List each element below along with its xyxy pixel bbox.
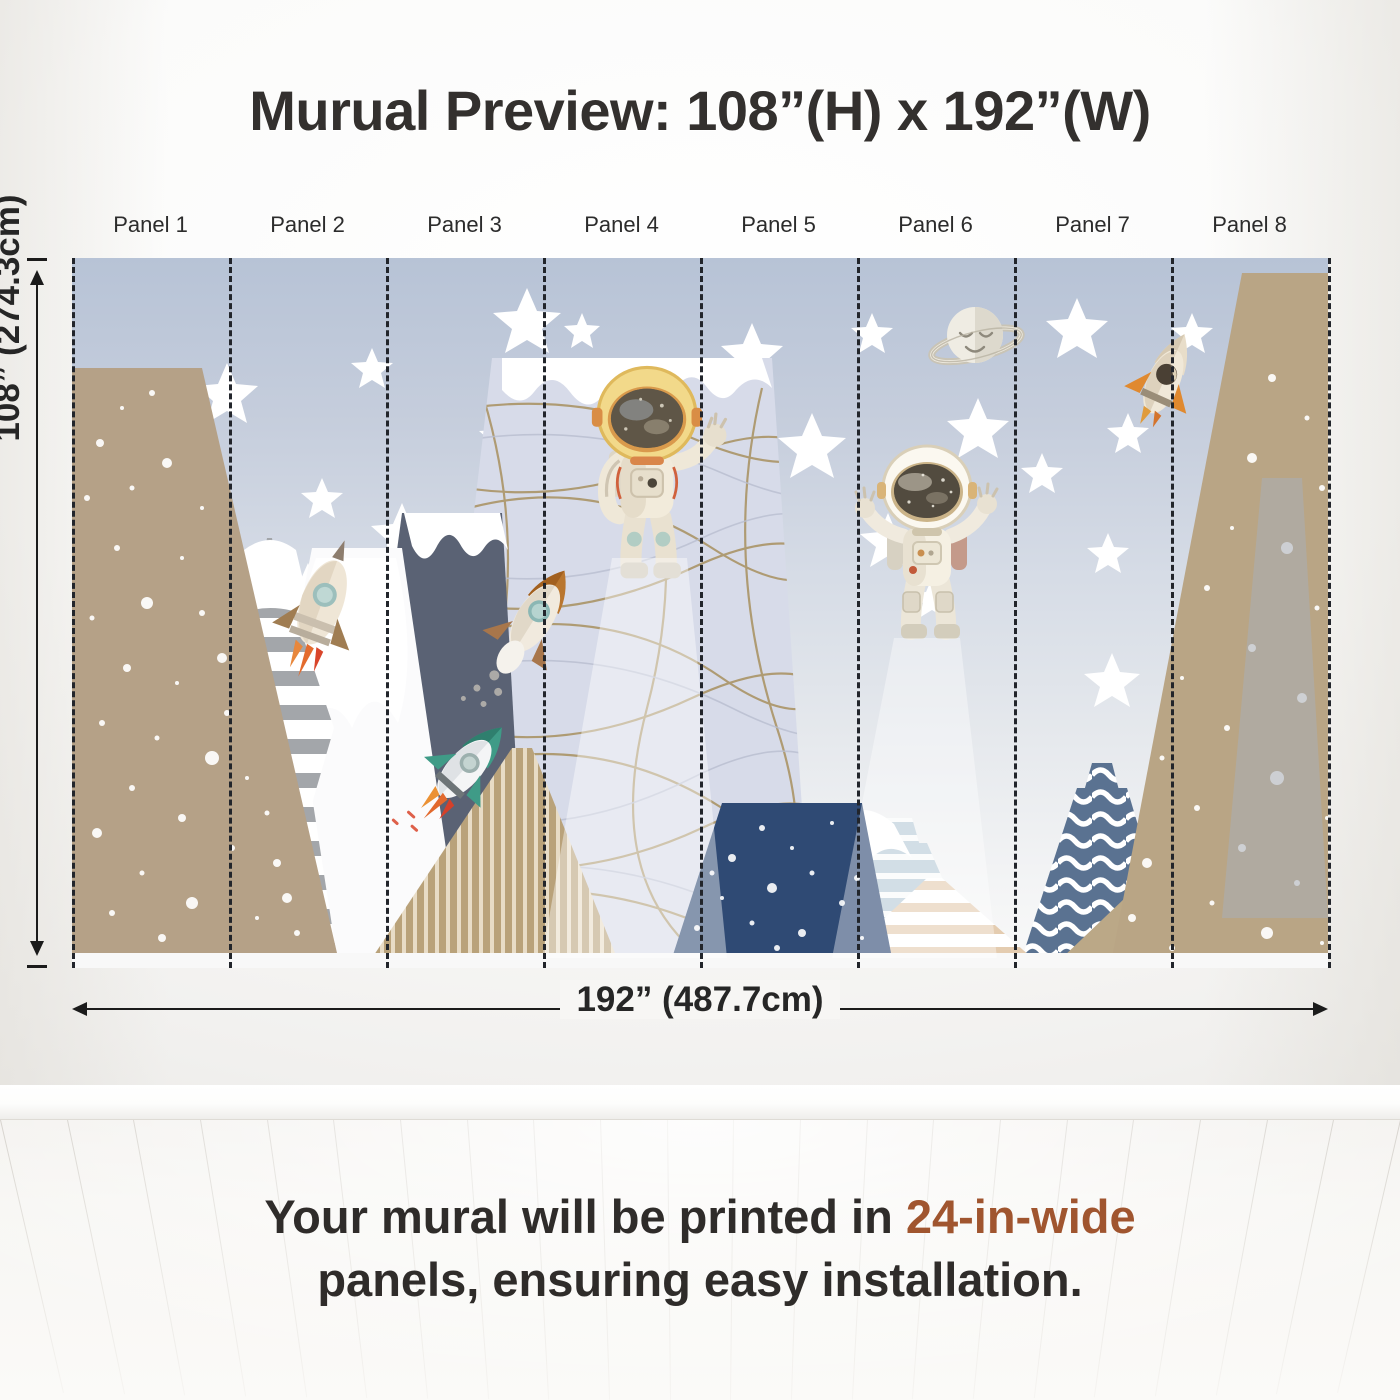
panel-label-8: Panel 8 xyxy=(1171,212,1328,238)
panel-divider-7 xyxy=(1171,258,1174,968)
width-label: 192” (487.7cm) xyxy=(560,980,839,1019)
height-tick-bottom xyxy=(27,965,47,968)
panel-label-7: Panel 7 xyxy=(1014,212,1171,238)
panel-divider-8 xyxy=(1328,258,1331,968)
mural-preview-page: Murual Preview: 108”(H) x 192”(W) xyxy=(0,0,1400,1400)
caption-line-1: Your mural will be printed in 24-in-wide xyxy=(90,1186,1310,1249)
panel-label-4: Panel 4 xyxy=(543,212,700,238)
height-arrow-down xyxy=(30,941,44,956)
panel-divider-5 xyxy=(857,258,860,968)
height-label: 108” (274.3cm) xyxy=(0,58,28,578)
panel-divider-2 xyxy=(386,258,389,968)
width-label-wrap: 192” (487.7cm) xyxy=(72,980,1328,1020)
panel-label-3: Panel 3 xyxy=(386,212,543,238)
width-dimension: 192” (487.7cm) xyxy=(72,1008,1328,1010)
room-baseboard xyxy=(0,1085,1400,1120)
panel-label-2: Panel 2 xyxy=(229,212,386,238)
panel-divider-3 xyxy=(543,258,546,968)
panel-divider-1 xyxy=(229,258,232,968)
height-tick-top xyxy=(27,258,47,261)
panel-divider-0 xyxy=(72,258,75,968)
caption-text-before: Your mural will be printed in xyxy=(264,1190,906,1243)
panel-label-6: Panel 6 xyxy=(857,212,1014,238)
caption-highlight: 24-in-wide xyxy=(906,1190,1136,1243)
height-line xyxy=(36,272,38,954)
panel-divider-6 xyxy=(1014,258,1017,968)
panel-label-1: Panel 1 xyxy=(72,212,229,238)
height-arrow-up xyxy=(30,270,44,285)
height-dimension xyxy=(36,258,38,968)
panel-label-5: Panel 5 xyxy=(700,212,857,238)
page-title: Murual Preview: 108”(H) x 192”(W) xyxy=(0,78,1400,143)
caption-line-2: panels, ensuring easy installation. xyxy=(90,1249,1310,1312)
footer-caption: Your mural will be printed in 24-in-wide… xyxy=(90,1186,1310,1312)
panel-divider-4 xyxy=(700,258,703,968)
